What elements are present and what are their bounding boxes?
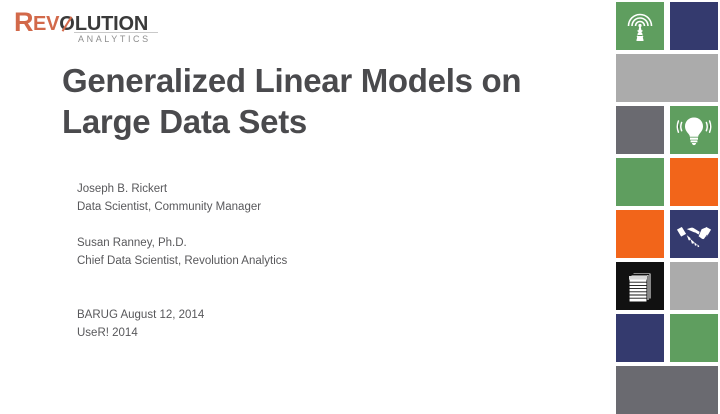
presenter-two: Susan Ranney, Ph.D. Chief Data Scientist… bbox=[77, 234, 287, 270]
tile-broadcast-tower bbox=[616, 2, 664, 50]
slide-canvas: REVOLUTION ANALYTICS Generalized Linear … bbox=[0, 0, 720, 405]
logo-wordmark: REVOLUTION bbox=[14, 8, 148, 34]
logo-divider bbox=[74, 32, 158, 33]
tile-7 bbox=[670, 158, 718, 206]
event-info: BARUG August 12, 2014 UseR! 2014 bbox=[77, 306, 204, 342]
logo-subtitle: ANALYTICS bbox=[78, 34, 151, 44]
event-line-two: UseR! 2014 bbox=[77, 324, 204, 342]
logo-letters-ev: EV bbox=[33, 13, 59, 35]
tile-13 bbox=[670, 314, 718, 362]
broadcast-tower-icon bbox=[616, 2, 664, 50]
tile-lightbulb bbox=[670, 106, 718, 154]
revolution-analytics-logo: REVOLUTION ANALYTICS bbox=[14, 8, 159, 46]
notepad-icon bbox=[616, 262, 664, 310]
lightbulb-icon bbox=[670, 106, 718, 154]
presenter-one-name: Joseph B. Rickert bbox=[77, 180, 261, 198]
tile-12 bbox=[616, 314, 664, 362]
tile-2 bbox=[670, 2, 718, 50]
decorative-tile-grid bbox=[616, 2, 720, 402]
event-line-one: BARUG August 12, 2014 bbox=[77, 306, 204, 324]
presenter-one: Joseph B. Rickert Data Scientist, Commun… bbox=[77, 180, 261, 216]
logo-letter-o: O bbox=[59, 11, 75, 37]
tile-14 bbox=[616, 366, 718, 414]
tile-4 bbox=[616, 106, 664, 154]
handshake-icon bbox=[670, 210, 718, 258]
presenter-two-name: Susan Ranney, Ph.D. bbox=[77, 234, 287, 252]
tile-notepad bbox=[616, 262, 664, 310]
tile-11 bbox=[670, 262, 718, 310]
tile-6 bbox=[616, 158, 664, 206]
logo-letter-r: R bbox=[14, 7, 33, 37]
tile-3 bbox=[616, 54, 718, 102]
presenter-two-role: Chief Data Scientist, Revolution Analyti… bbox=[77, 252, 287, 270]
page-title: Generalized Linear Models on Large Data … bbox=[62, 60, 602, 142]
presenter-one-role: Data Scientist, Community Manager bbox=[77, 198, 261, 216]
tile-handshake bbox=[670, 210, 718, 258]
tile-8 bbox=[616, 210, 664, 258]
